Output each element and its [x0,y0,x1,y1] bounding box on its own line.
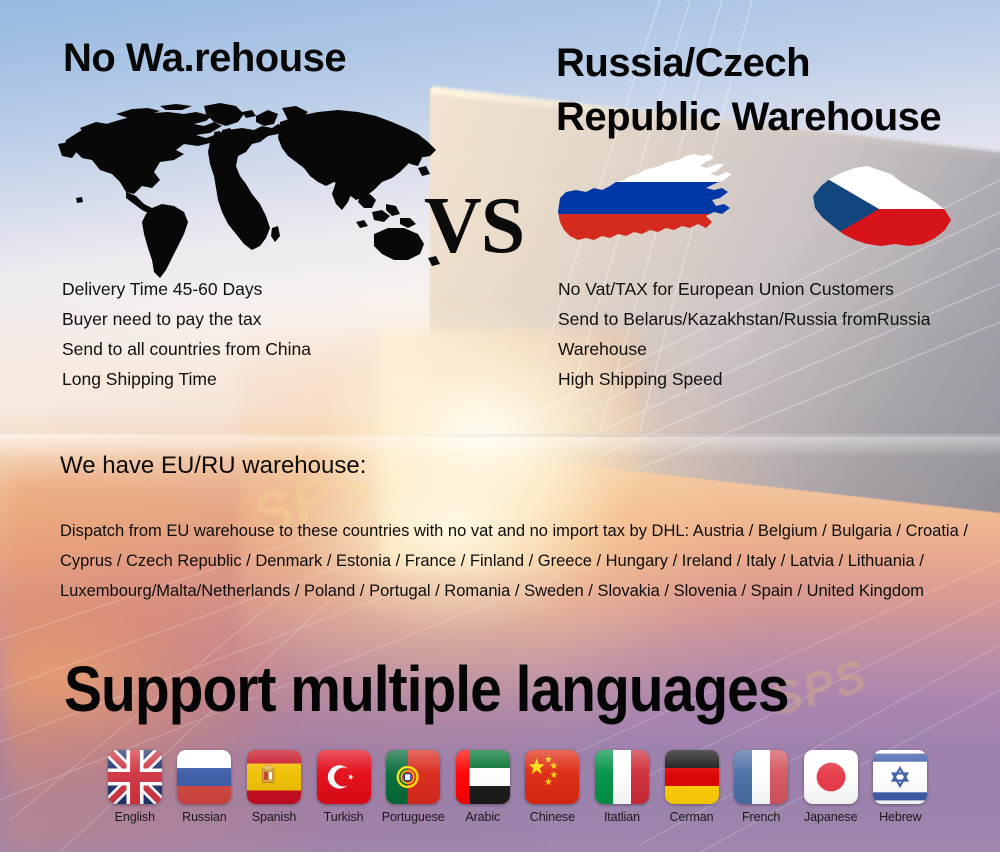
world-map-icon [56,100,448,285]
left-benefits-list: Delivery Time 45-60 Days Buyer need to p… [62,274,462,394]
russia-flag-map-icon [556,150,748,270]
flag-turkey-icon [317,750,371,804]
flag-china-icon [525,750,579,804]
flag-italy-icon [595,750,649,804]
flag-label: Cerman [670,810,714,824]
list-item: Send to all countries from China [62,334,462,364]
list-item: No Vat/TAX for European Union Customers [558,274,988,304]
flag-item-turkish[interactable]: Turkish [309,750,379,824]
right-benefits-list: No Vat/TAX for European Union Customers … [558,274,988,394]
flag-item-arabic[interactable]: Arabic [448,750,518,824]
flag-france-icon [734,750,788,804]
heading-russia-czech-warehouse: Russia/Czech Republic Warehouse [556,36,986,144]
flag-label: Turkish [324,810,364,824]
promo-banner: SPS SPS SPS No Wa.rehouse Russia/Czech R… [0,0,1000,852]
flag-item-spanish[interactable]: Spanish [239,750,309,824]
flag-uk-icon [108,750,162,804]
czech-flag-map-icon [795,160,963,258]
dispatch-countries-text: Dispatch from EU warehouse to these coun… [60,516,970,606]
support-languages-title: Support multiple languages [64,652,964,727]
flag-label: Chinese [530,810,575,824]
flag-item-japanese[interactable]: Japanese [796,750,866,824]
flag-japan-icon [804,750,858,804]
flag-item-german[interactable]: Cerman [657,750,727,824]
list-item: Send to Belarus/Kazakhstan/Russia fromRu… [558,304,988,334]
flag-israel-icon [873,750,927,804]
language-flags-row: English Russian [100,750,936,824]
flag-label: English [115,810,155,824]
flag-label: Itatlian [604,810,640,824]
heading-no-warehouse: No Wa.rehouse [63,36,346,81]
flag-spain-icon [247,750,301,804]
flag-russia-icon [177,750,231,804]
flag-item-chinese[interactable]: Chinese [518,750,588,824]
list-item: Long Shipping Time [62,364,462,394]
flag-uae-icon [456,750,510,804]
heading-right-line2: Republic Warehouse [556,90,986,144]
eu-ru-warehouse-title: We have EU/RU warehouse: [60,452,366,480]
flag-item-italian[interactable]: Itatlian [587,750,657,824]
flag-label: Hebrew [879,810,921,824]
list-item: Buyer need to pay the tax [62,304,462,334]
flag-label: Russian [182,810,226,824]
flag-label: Portuguese [382,810,445,824]
flag-portugal-icon [386,750,440,804]
flag-item-english[interactable]: English [100,750,170,824]
flag-label: French [742,810,780,824]
flag-label: Spanish [252,810,296,824]
heading-right-line1: Russia/Czech [556,36,986,90]
flag-item-hebrew[interactable]: Hebrew [866,750,936,824]
list-item: Delivery Time 45-60 Days [62,274,462,304]
flag-label: Arabic [465,810,500,824]
flag-item-portuguese[interactable]: Portuguese [378,750,448,824]
list-item: Warehouse [558,334,988,364]
list-item: High Shipping Speed [558,364,988,394]
flag-germany-icon [665,750,719,804]
flag-item-russian[interactable]: Russian [170,750,240,824]
flag-label: Japanese [804,810,857,824]
flag-item-french[interactable]: French [726,750,796,824]
